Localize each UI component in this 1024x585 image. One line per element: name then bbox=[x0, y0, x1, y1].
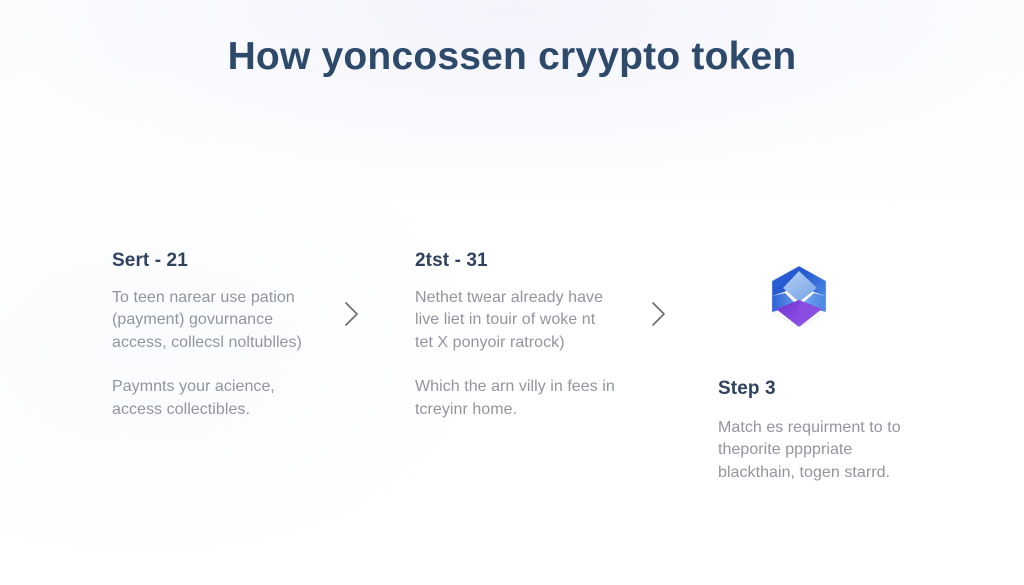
chevron-right-glyph bbox=[645, 297, 673, 331]
step-2-paragraph-2: Which the arn villy in fees in tcreyinr … bbox=[415, 376, 615, 421]
slide-canvas: How yoncossen cryypto token Sert - 21 To… bbox=[0, 0, 1024, 585]
step-1-paragraph-1: To teen narear use pation (payment) govu… bbox=[112, 287, 312, 355]
steps-row: Sert - 21 To teen narear use pation (pay… bbox=[0, 250, 1024, 520]
crypto-hexagon-gem-icon bbox=[764, 262, 834, 336]
step-1-heading: Sert - 21 bbox=[112, 250, 312, 273]
step-column-1: Sert - 21 To teen narear use pation (pay… bbox=[112, 250, 312, 421]
step-2-paragraph-1: Nethet twear already have live liet in t… bbox=[415, 287, 615, 355]
page-title: How yoncossen cryypto token bbox=[0, 34, 1024, 80]
step-1-paragraph-2: Paymnts your acience, access collectible… bbox=[112, 376, 312, 421]
chevron-right-icon bbox=[645, 297, 673, 331]
chevron-right-icon bbox=[338, 297, 366, 331]
step-2-heading: 2tst - 31 bbox=[415, 250, 615, 273]
step-3-text-block: Step 3 Match es requirment to to thepori… bbox=[718, 378, 930, 484]
step-3-heading: Step 3 bbox=[718, 378, 930, 401]
chevron-right-glyph bbox=[338, 297, 366, 331]
step-3-paragraph-1: Match es requirment to to theporite pppp… bbox=[718, 417, 930, 485]
crypto-hexagon-gem-glyph bbox=[764, 262, 834, 336]
step-column-2: 2tst - 31 Nethet twear already have live… bbox=[415, 250, 615, 421]
